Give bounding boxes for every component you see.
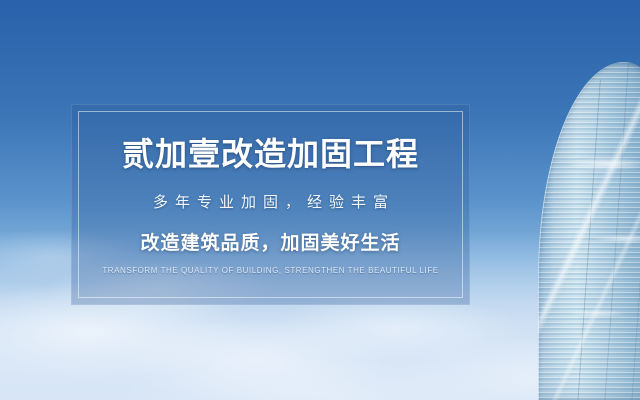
hero-text-panel: 贰加壹改造加固工程 多年专业加固，经验丰富 改造建筑品质，加固美好生活 TRAN… <box>71 104 470 305</box>
skyscraper-edge-highlight <box>538 62 640 400</box>
hero-headline: 贰加壹改造加固工程 <box>122 136 419 173</box>
hero-subline: 多年专业加固，经验丰富 <box>146 191 395 212</box>
panel-content: 贰加壹改造加固工程 多年专业加固，经验丰富 改造建筑品质，加固美好生活 TRAN… <box>72 105 469 304</box>
hero-tagline: 改造建筑品质，加固美好生活 <box>140 228 400 255</box>
hero-english-tagline: TRANSFORM THE QUALITY OF BUILDING, STREN… <box>102 266 438 275</box>
hero-banner: 贰加壹改造加固工程 多年专业加固，经验丰富 改造建筑品质，加固美好生活 TRAN… <box>0 0 640 400</box>
skyscraper-image <box>510 0 640 400</box>
skyscraper-body <box>538 62 640 400</box>
